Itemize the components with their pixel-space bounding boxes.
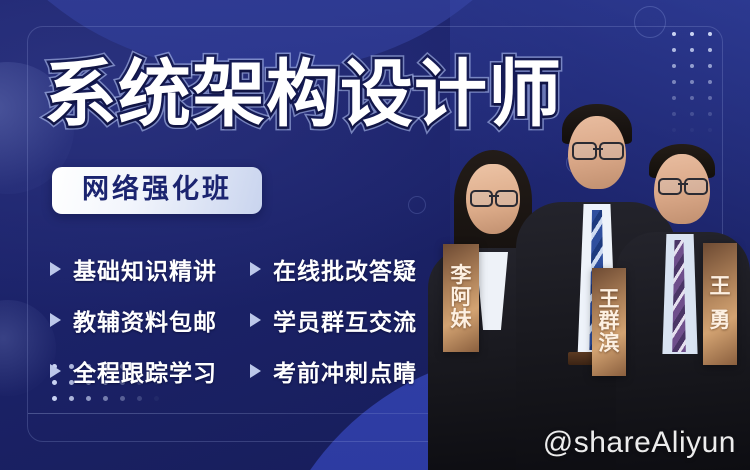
course-promo-banner: 系统架构设计师 系统架构设计师 网络强化班 基础知识精讲 在线批改答疑 教辅资料… — [0, 0, 750, 470]
feature-list: 基础知识精讲 在线批改答疑 教辅资料包邮 学员群互交流 全程跟踪学习 考前冲刺点… — [50, 243, 450, 396]
triangle-right-icon — [250, 364, 261, 378]
instructor-name-char: 阿 — [451, 287, 472, 309]
instructor-nameplate-1: 李 阿 妹 — [443, 244, 479, 352]
feature-label: 基础知识精讲 — [73, 252, 217, 286]
left-circle-blob-2 — [0, 300, 56, 396]
subtitle-badge: 网络强化班 — [52, 167, 262, 214]
triangle-right-icon — [250, 313, 261, 327]
feature-label: 学员群互交流 — [273, 303, 417, 337]
triangle-right-icon — [50, 313, 61, 327]
ring-outline-icon — [634, 6, 666, 38]
instructor-name-char: 群 — [599, 311, 620, 333]
instructor-nameplate-2: 王 群 滨 — [592, 268, 626, 376]
instructor-name-char: 勇 — [710, 304, 731, 338]
feature-label: 全程跟踪学习 — [73, 354, 217, 388]
subtitle-badge-label: 网络强化班 — [82, 176, 232, 203]
feature-item: 基础知识精讲 — [50, 252, 250, 286]
instructor-nameplate-3: 王 勇 — [703, 243, 737, 365]
instructor-name-char: 李 — [451, 265, 472, 287]
instructor-name-char: 滨 — [599, 333, 620, 355]
triangle-right-icon — [250, 262, 261, 276]
watermark-label: @shareAliyun — [543, 426, 736, 460]
feature-label: 在线批改答疑 — [273, 252, 417, 286]
feature-label: 考前冲刺点睛 — [273, 354, 417, 388]
feature-label: 教辅资料包邮 — [73, 303, 217, 337]
instructor-name-char: 妹 — [451, 309, 472, 331]
glasses-icon — [658, 178, 708, 192]
feature-item: 教辅资料包邮 — [50, 303, 250, 337]
feature-item: 全程跟踪学习 — [50, 354, 250, 388]
triangle-right-icon — [50, 262, 61, 276]
glasses-icon — [470, 190, 518, 204]
instructor-name-char: 王 — [599, 289, 620, 311]
instructor-name-char: 王 — [710, 270, 731, 304]
triangle-right-icon — [50, 364, 61, 378]
